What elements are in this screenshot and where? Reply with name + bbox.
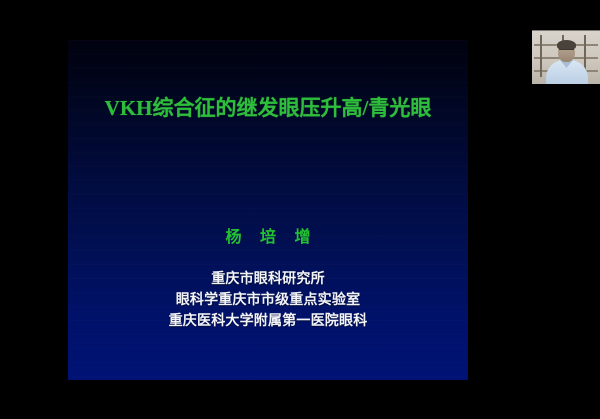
slide-author-name: 杨 培 增 [68, 228, 468, 248]
bookshelf-post [540, 35, 542, 77]
affiliation-line-3: 重庆医科大学附属第一医院眼科 [68, 310, 468, 331]
affiliation-line-2: 眼科学重庆市市级重点实验室 [68, 289, 468, 310]
slide-affiliation-block: 重庆市眼科研究所 眼科学重庆市市级重点实验室 重庆医科大学附属第一医院眼科 [68, 268, 468, 331]
affiliation-line-1: 重庆市眼科研究所 [68, 268, 468, 289]
slide-title: VKH综合征的继发眼压升高/青光眼 [68, 96, 468, 120]
presentation-slide[interactable]: VKH综合征的继发眼压升高/青光眼 杨 培 增 重庆市眼科研究所 眼科学重庆市市… [68, 40, 468, 380]
bookshelf-books [534, 73, 540, 82]
bookshelf-books [587, 60, 598, 69]
video-stage: VKH综合征的继发眼压升高/青光眼 杨 培 增 重庆市眼科研究所 眼科学重庆市市… [0, 0, 600, 419]
bookshelf-books [587, 47, 598, 56]
presenter-glasses-icon [559, 49, 574, 53]
bookshelf-books [587, 73, 598, 82]
presenter-webcam-thumbnail[interactable] [532, 30, 600, 84]
